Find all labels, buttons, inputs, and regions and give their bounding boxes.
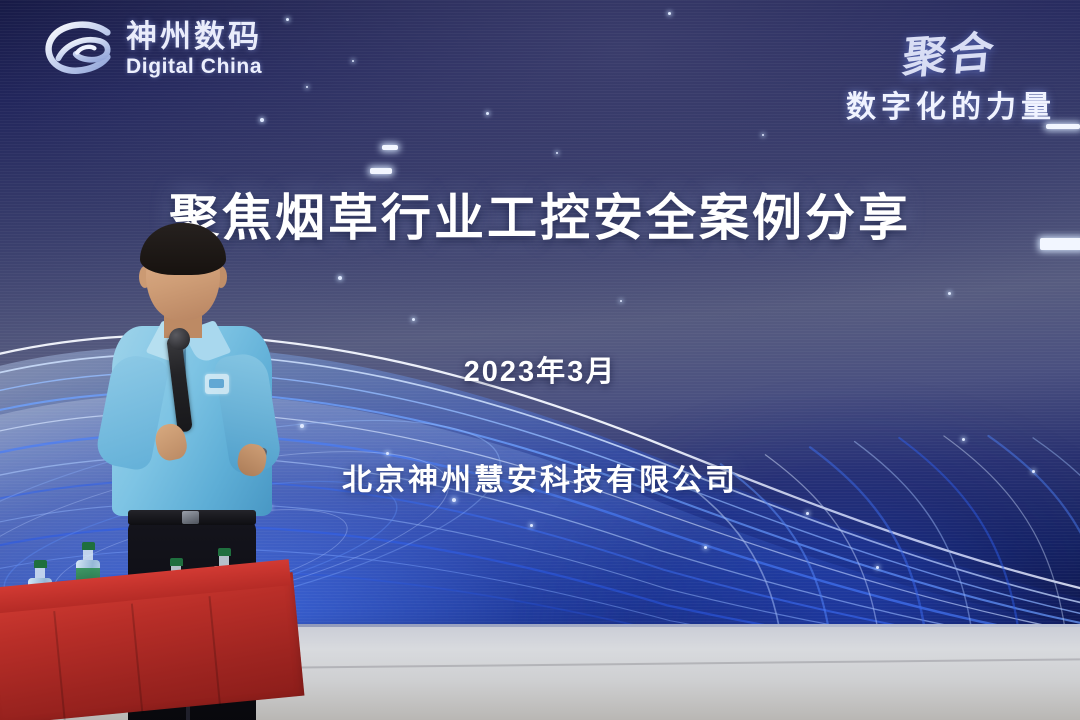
skirt-fold xyxy=(208,596,221,706)
particle xyxy=(806,512,809,515)
particle xyxy=(412,318,415,321)
particle xyxy=(286,18,289,21)
conference-photo: 神州数码 Digital China 聚合 数字化的力量 聚焦烟草行业工控安全案… xyxy=(0,0,1080,720)
event-logo: 聚合 数字化的力量 xyxy=(846,16,1056,126)
particle xyxy=(704,546,707,549)
particle xyxy=(486,112,489,115)
light-streak xyxy=(370,168,392,174)
digital-china-swirl-logo xyxy=(44,18,116,80)
brand-name-cn: 神州数码 xyxy=(126,21,262,52)
particle xyxy=(876,566,879,569)
particle xyxy=(962,438,965,441)
particle xyxy=(260,118,264,122)
particle xyxy=(556,152,558,154)
wave-glow-right xyxy=(432,377,1080,628)
particle xyxy=(530,524,533,527)
speaker-belt-buckle xyxy=(182,511,199,524)
light-streak xyxy=(382,145,398,150)
digital-china-logo: 神州数码 Digital China xyxy=(44,18,262,80)
particle xyxy=(352,60,354,62)
conference-table xyxy=(0,588,290,720)
skirt-fold xyxy=(131,604,144,714)
particle xyxy=(668,12,671,15)
brand-name-en: Digital China xyxy=(126,56,262,77)
skirt-fold xyxy=(53,611,66,720)
particle xyxy=(762,134,764,136)
particle xyxy=(338,276,342,280)
speaker-hair xyxy=(140,223,226,275)
event-logo-calligraphy: 聚合 xyxy=(842,16,999,90)
event-logo-subtitle: 数字化的力量 xyxy=(846,82,1056,126)
particle xyxy=(300,424,304,428)
particle xyxy=(948,292,951,295)
particle xyxy=(620,300,622,302)
particle xyxy=(306,86,308,88)
speaker-shirt-logo xyxy=(205,374,229,394)
